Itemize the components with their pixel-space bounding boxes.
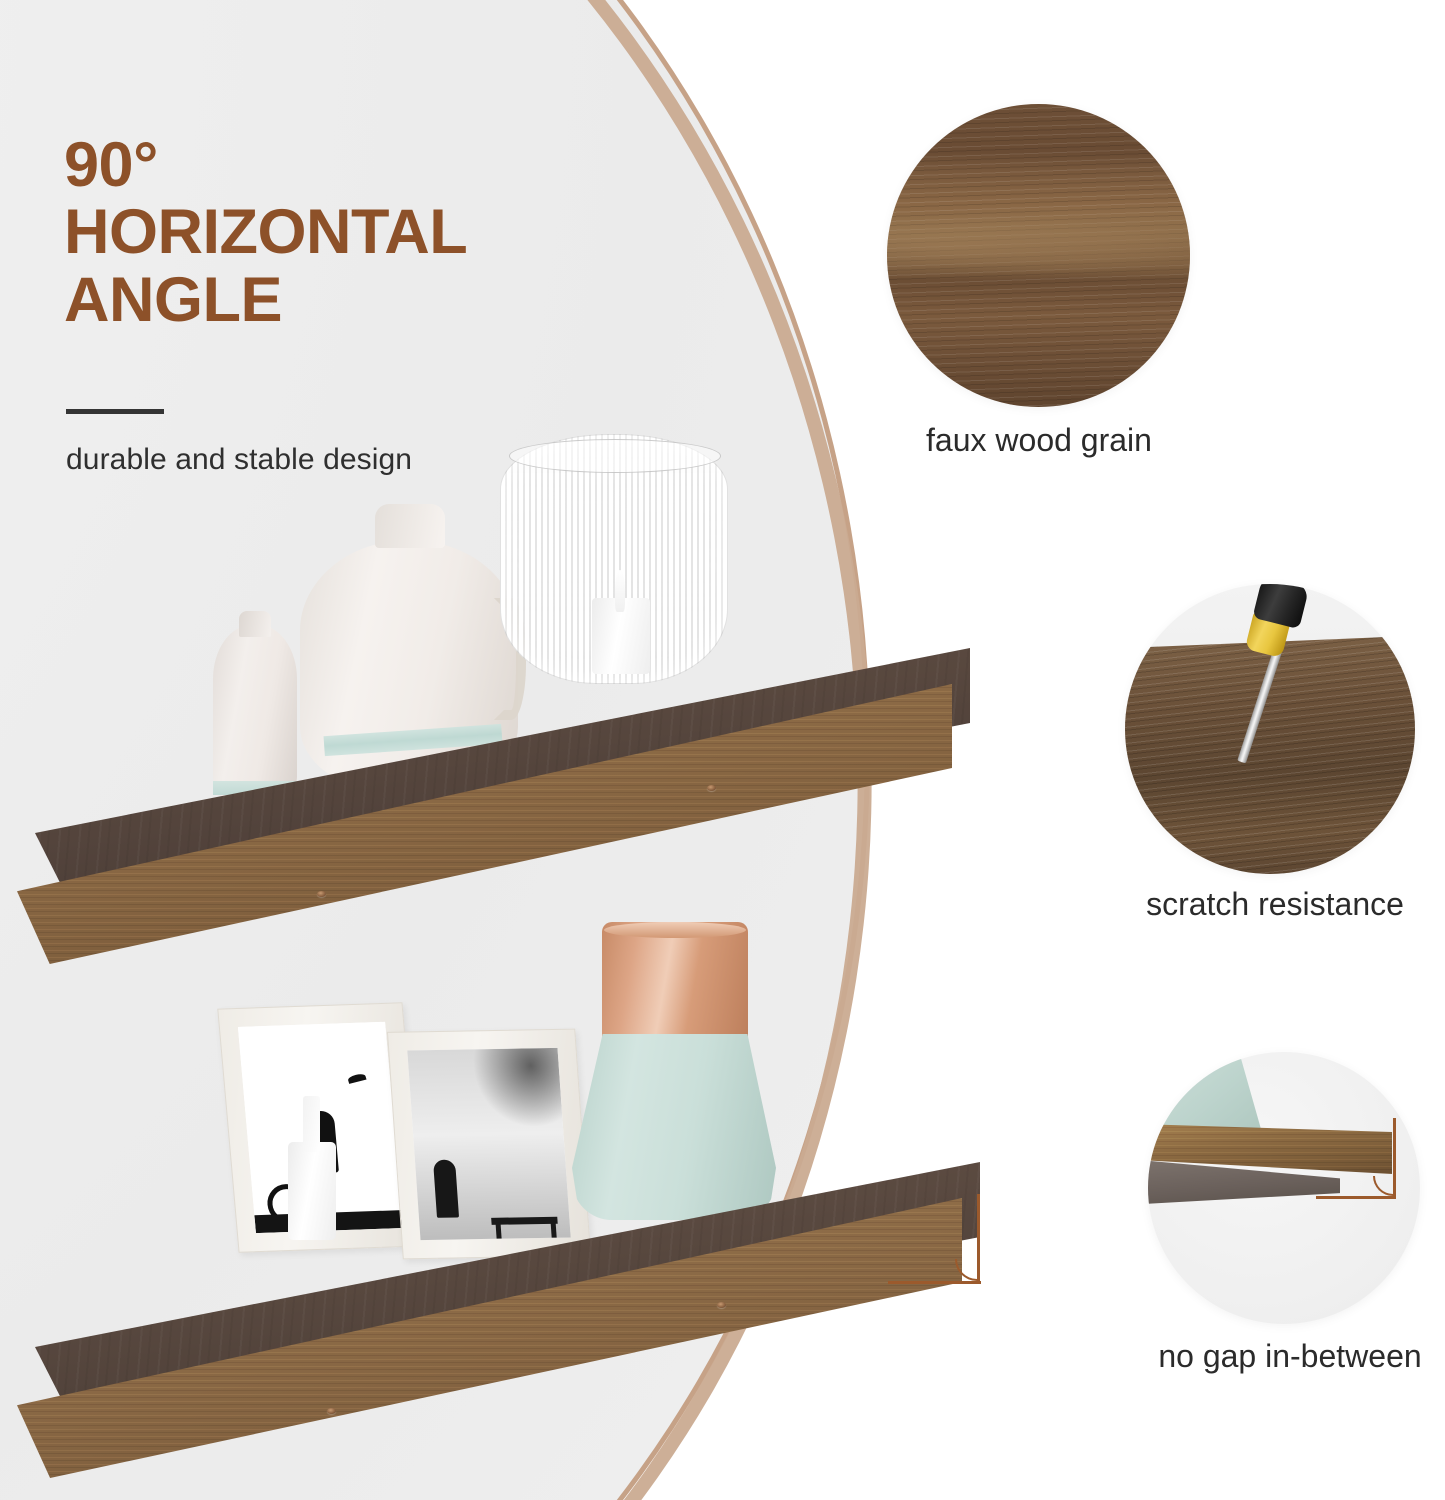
vase-neck (239, 611, 271, 637)
vase-rim (604, 922, 746, 938)
callout-scratch-resistance: scratch resistance (1115, 584, 1435, 944)
bracket-vertical-line (977, 1194, 980, 1282)
photo-bird-silhouette (347, 1073, 366, 1084)
bracket-angle-arc-icon (955, 1259, 977, 1281)
screwdriver-on-wood-icon (1125, 584, 1415, 874)
callout-no-gap-in-between: no gap in-between (1140, 1052, 1440, 1412)
lower-shelf-scene (0, 900, 1010, 1460)
wood-texture (887, 104, 1190, 407)
right-angle-annotation (1316, 1118, 1402, 1208)
page-title: 90° HORIZONTAL ANGLE (64, 132, 467, 334)
candle-taper (303, 1096, 320, 1152)
callout-faux-wood-grain: faux wood grain (877, 104, 1201, 464)
wood-grain-figure (887, 207, 1190, 286)
upper-shelf-screw-left (317, 891, 326, 897)
upper-shelf-screw-right (707, 785, 716, 791)
bracket-vertical-line (1393, 1118, 1396, 1196)
bracket-angle-arc-icon (1373, 1176, 1393, 1196)
wood-grain-swatch-icon (887, 104, 1190, 407)
lower-shelf (35, 1162, 980, 1462)
candle-flame-wick (615, 570, 625, 612)
callout-label-no-gap-in-between: no gap in-between (1140, 1338, 1440, 1375)
bracket-horizontal-line (1316, 1196, 1396, 1199)
callout-label-scratch-resistance: scratch resistance (1115, 886, 1435, 923)
vase-copper-collar (602, 922, 748, 1040)
photo-tree-canopy (464, 1048, 563, 1137)
vase-rim (509, 439, 721, 473)
jug-neck (375, 504, 445, 548)
bracket-horizontal-line (888, 1281, 981, 1284)
upper-shelf-scene (0, 400, 1000, 960)
right-angle-annotation (888, 1194, 988, 1294)
shelf-edge-right-angle-icon (1148, 1052, 1420, 1324)
lower-shelf-screw-right (717, 1302, 726, 1308)
product-feature-image: 90° HORIZONTAL ANGLE durable and stable … (0, 0, 1445, 1500)
lower-shelf-screw-left (327, 1408, 336, 1414)
callout-label-faux-wood-grain: faux wood grain (877, 422, 1201, 459)
